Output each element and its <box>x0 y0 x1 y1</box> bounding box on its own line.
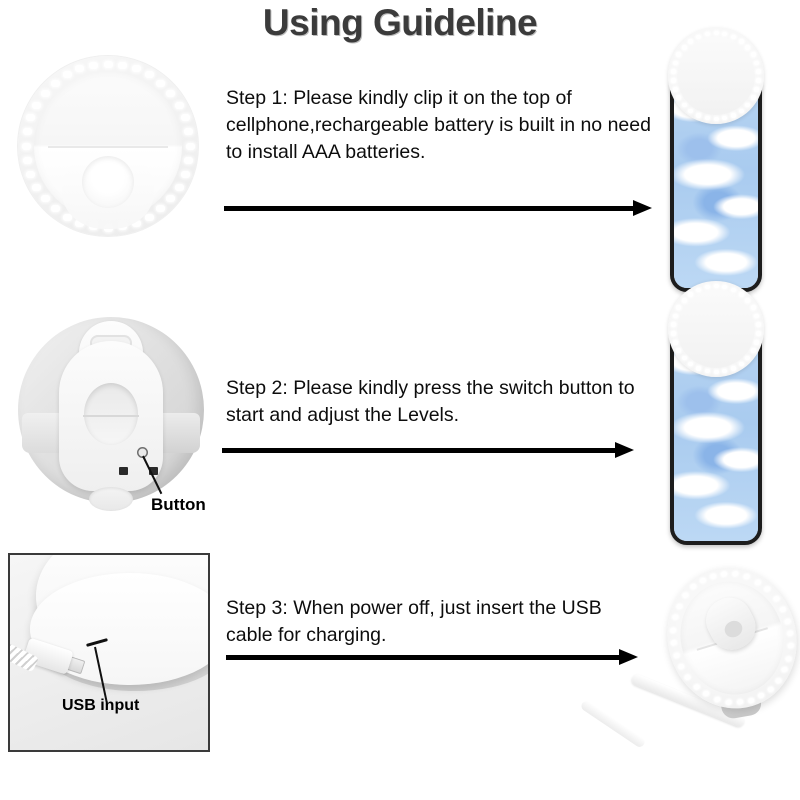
step-2-text: Step 2: Please kindly press the switch b… <box>226 375 651 429</box>
led-dot <box>673 87 678 92</box>
led-dot <box>772 595 779 602</box>
led-dot <box>736 699 743 706</box>
led-dot <box>670 627 677 634</box>
step-3-arrow <box>226 649 638 665</box>
ring-clip-leds <box>668 28 764 124</box>
step-2-content: Step 2: Please kindly press the switch b… <box>218 295 658 545</box>
led-dot <box>767 686 774 693</box>
led-dot <box>682 356 687 361</box>
led-dot <box>676 348 681 353</box>
usb-callout-label: USB input <box>62 697 139 715</box>
led-dot <box>731 366 736 371</box>
led-dot <box>673 314 678 319</box>
led-dot <box>63 71 72 78</box>
led-dot <box>722 32 727 37</box>
clip-thumb-pad <box>89 487 133 511</box>
led-dot <box>732 571 739 578</box>
led-dot <box>672 614 679 621</box>
button-callout-label: Button <box>151 495 206 515</box>
led-dot <box>696 113 701 118</box>
led-dot <box>175 184 184 191</box>
led-dot <box>673 652 680 659</box>
led-dot <box>739 109 744 114</box>
clip-hole <box>721 618 744 640</box>
led-dot <box>696 288 701 293</box>
led-dot <box>156 205 165 212</box>
led-dot <box>682 103 687 108</box>
led-dot <box>156 80 165 87</box>
led-dot <box>751 95 756 100</box>
led-dot <box>41 90 50 97</box>
led-dot <box>26 114 35 121</box>
led-dot <box>754 314 759 319</box>
led-dot <box>756 322 761 327</box>
led-dot <box>745 298 750 303</box>
step-3-content: Step 3: When power off, just insert the … <box>218 545 658 800</box>
led-dot <box>756 78 761 83</box>
led-dot <box>751 305 756 310</box>
led-dot <box>705 369 710 374</box>
led-dot <box>784 618 791 625</box>
led-dot <box>32 102 41 109</box>
led-dot <box>786 630 793 637</box>
led-dot <box>673 340 678 345</box>
arrow-shaft <box>224 206 636 211</box>
led-dot <box>51 205 60 212</box>
usb-port-photo-panel: USB input <box>0 545 220 800</box>
ring-split-line <box>48 146 168 148</box>
step-2-arrow <box>222 442 634 458</box>
led-dot <box>725 699 732 706</box>
led-dot <box>688 109 693 114</box>
step-2-row: Button Step 2: Please kindly press the s… <box>0 295 800 545</box>
led-dot <box>745 103 750 108</box>
led-dot <box>184 128 193 135</box>
led-dot <box>775 677 782 684</box>
led-dot <box>699 577 706 584</box>
led-dot <box>731 35 736 40</box>
led-dot <box>714 284 719 289</box>
led-dot <box>676 95 681 100</box>
usb-closeup-photo: USB input <box>8 553 210 752</box>
led-dot <box>671 69 676 74</box>
led-dot <box>132 65 141 72</box>
ring-inner-face <box>34 72 182 220</box>
arrow-shaft <box>222 448 618 453</box>
led-dot <box>688 39 693 44</box>
led-dot <box>696 366 701 371</box>
led-dot <box>745 356 750 361</box>
led-dot <box>745 45 750 50</box>
led-dot <box>676 305 681 310</box>
led-dot <box>682 45 687 50</box>
ring-light-tilted <box>662 567 800 717</box>
led-dot <box>705 32 710 37</box>
led-dot <box>754 340 759 345</box>
ring-light-front-illustration <box>0 40 220 295</box>
led-dot <box>696 35 701 40</box>
led-dot <box>671 78 676 83</box>
led-dot <box>714 117 719 122</box>
step-2-phone-illustration <box>640 295 800 545</box>
led-dot <box>682 298 687 303</box>
led-dot <box>175 102 184 109</box>
led-dot <box>747 697 754 704</box>
led-dot <box>51 80 60 87</box>
ring-light-charging-illustration <box>640 545 800 800</box>
guideline-page: Using Guideline Step 1: Please kindly cl… <box>0 0 800 800</box>
led-dot <box>714 370 719 375</box>
led-dot <box>781 667 788 674</box>
led-dot <box>721 570 728 577</box>
led-dot <box>184 157 193 164</box>
led-dot <box>671 331 676 336</box>
led-dot <box>739 292 744 297</box>
led-dot <box>754 579 761 586</box>
ring-light-clipped-on-phone <box>668 28 764 124</box>
led-dot <box>751 348 756 353</box>
led-dot <box>787 643 794 650</box>
led-dot <box>676 52 681 57</box>
led-dot <box>743 574 750 581</box>
led-dot <box>682 592 689 599</box>
led-dot <box>739 39 744 44</box>
led-dot <box>670 639 677 646</box>
led-dot <box>731 113 736 118</box>
led-dot <box>764 586 771 593</box>
led-dot <box>118 62 127 69</box>
led-dot <box>722 285 727 290</box>
led-dot <box>779 606 786 613</box>
led-dot <box>32 184 41 191</box>
arrow-head-icon <box>615 442 634 458</box>
led-dot <box>181 114 190 121</box>
led-dot <box>684 674 691 681</box>
step-3-text: Step 3: When power off, just insert the … <box>226 595 651 649</box>
step-3-row: USB input Step 3: When power off, just i… <box>0 545 800 800</box>
led-dot <box>754 87 759 92</box>
led-dot <box>671 322 676 327</box>
led-dot <box>713 696 720 703</box>
led-dot <box>688 292 693 297</box>
led-dot <box>709 573 716 580</box>
led-dot <box>166 195 175 202</box>
led-dot <box>754 61 759 66</box>
arrow-head-icon <box>619 649 638 665</box>
led-dot <box>785 655 792 662</box>
step-1-row: Step 1: Please kindly clip it on the top… <box>0 40 800 295</box>
ring-light-front <box>18 56 198 236</box>
led-dot <box>75 65 84 72</box>
led-dot <box>693 683 700 690</box>
led-dot <box>678 663 685 670</box>
ring-light-back: Button <box>18 317 204 503</box>
led-dot <box>705 116 710 121</box>
clip-hole-line <box>83 415 139 417</box>
led-dot <box>703 691 710 698</box>
led-dot <box>22 143 31 150</box>
ring-light-clipped-on-phone <box>668 281 764 377</box>
led-dot <box>186 143 195 150</box>
step-1-arrow <box>224 200 652 216</box>
led-dot <box>145 214 154 221</box>
led-dot <box>705 285 710 290</box>
led-dot <box>731 288 736 293</box>
ring-light-back-illustration: Button <box>0 295 220 545</box>
led-dot <box>145 71 154 78</box>
led-dot <box>676 603 683 610</box>
led-dot <box>89 62 98 69</box>
contact-pad-left <box>119 467 128 475</box>
led-dot <box>751 52 756 57</box>
led-dot <box>673 61 678 66</box>
step-1-phone-illustration <box>640 40 800 295</box>
step-1-text: Step 1: Please kindly clip it on the top… <box>226 85 651 166</box>
led-dot <box>756 331 761 336</box>
led-dot <box>41 195 50 202</box>
led-dot <box>758 692 765 699</box>
clip-center-hole <box>84 383 138 445</box>
arrow-shaft <box>226 655 622 660</box>
led-dot <box>714 31 719 36</box>
led-dot <box>756 69 761 74</box>
led-dot <box>23 128 32 135</box>
led-dot <box>690 584 697 591</box>
ring-center-hole <box>82 156 134 208</box>
step-1-content: Step 1: Please kindly clip it on the top… <box>218 40 658 295</box>
led-dot <box>166 90 175 97</box>
led-dot <box>181 171 190 178</box>
led-dot <box>739 362 744 367</box>
led-dot <box>688 362 693 367</box>
led-dot <box>104 61 113 68</box>
led-dot <box>722 369 727 374</box>
led-dot <box>23 157 32 164</box>
led-dot <box>722 116 727 121</box>
led-dot <box>26 171 35 178</box>
ring-clip-leds <box>668 281 764 377</box>
